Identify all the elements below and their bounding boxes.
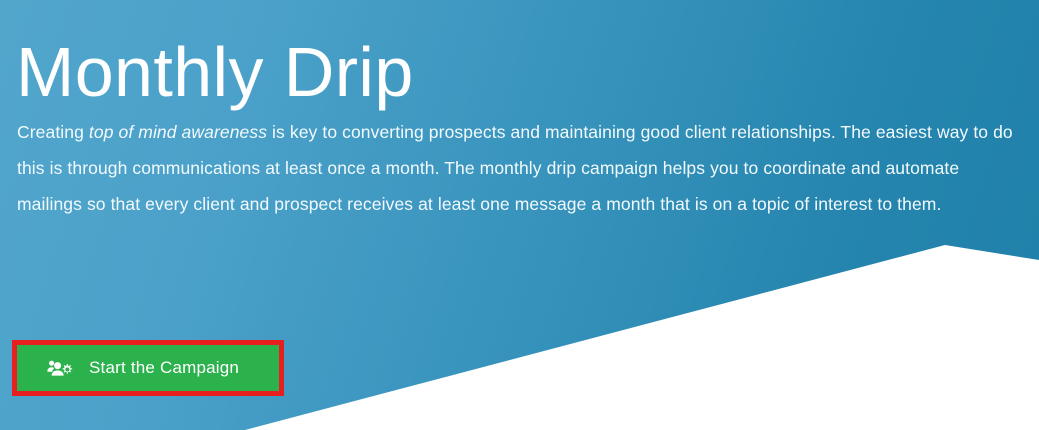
- hero-description: Creating top of mind awareness is key to…: [17, 114, 1017, 222]
- page-title: Monthly Drip: [16, 35, 414, 111]
- hero-banner: Monthly Drip Creating top of mind awaren…: [0, 0, 1039, 430]
- description-emphasis: top of mind awareness: [89, 122, 267, 142]
- description-text-before: Creating: [17, 122, 89, 142]
- cta-highlight-box: [12, 340, 284, 396]
